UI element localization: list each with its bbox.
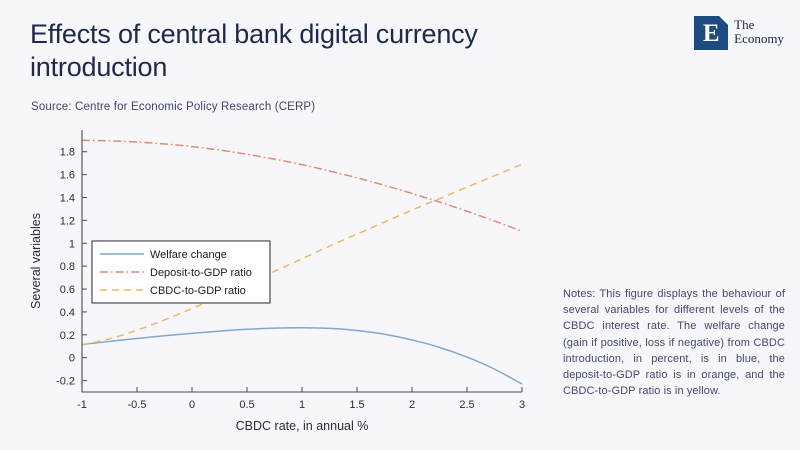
y-tick-label: 1 — [69, 238, 75, 250]
x-tick-label: -1 — [77, 399, 87, 411]
series-path — [82, 328, 522, 384]
x-tick-label: 1.5 — [349, 399, 364, 411]
page-title: Effects of central bank digital currency… — [30, 18, 590, 84]
x-tick-label: -0.5 — [128, 399, 147, 411]
legend-label: CBDC-to-GDP ratio — [150, 285, 246, 297]
chart-figure: -1-0.500.511.522.53 -0.200.20.40.60.811.… — [22, 120, 542, 440]
logo-wordmark-line2: Economy — [734, 32, 784, 46]
legend-label: Welfare change — [150, 249, 227, 261]
brand-logo: E The Economy — [694, 16, 784, 50]
x-tick-label: 2.5 — [459, 399, 474, 411]
chart-legend: Welfare changeDeposit-to-GDP ratioCBDC-t… — [92, 241, 270, 303]
line-chart: -1-0.500.511.522.53 -0.200.20.40.60.811.… — [22, 120, 542, 440]
y-tick-label: 0.8 — [60, 261, 75, 273]
y-tick-label: 0.6 — [60, 284, 75, 296]
y-tick-label: 1.4 — [60, 193, 75, 205]
y-tick-label: 1.8 — [60, 147, 75, 159]
y-tick-label: 0.4 — [60, 307, 75, 319]
x-tick-label: 1 — [299, 399, 305, 411]
y-tick-label: 1.2 — [60, 215, 75, 227]
y-tick-label: 1.6 — [60, 170, 75, 182]
x-tick-label: 2 — [409, 399, 415, 411]
logo-letter: E — [703, 21, 720, 46]
x-tick-label: 0.5 — [239, 399, 254, 411]
economy-logo-icon: E — [694, 16, 728, 50]
source-caption: Source: Centre for Economic Policy Resea… — [31, 101, 315, 113]
legend-label: Deposit-to-GDP ratio — [150, 267, 252, 279]
x-axis-title: CBDC rate, in annual % — [236, 419, 369, 433]
logo-wordmark: The Economy — [734, 16, 784, 46]
x-tick-label: 0 — [189, 399, 195, 411]
figure-notes: Notes: This figure displays the behaviou… — [563, 286, 785, 399]
y-axis-title: Several variables — [29, 213, 43, 309]
logo-wordmark-line1: The — [734, 18, 784, 32]
logo-fold-corner — [719, 16, 728, 25]
y-tick-label: -0.2 — [56, 376, 75, 388]
y-tick-label: 0.2 — [60, 330, 75, 342]
series-path — [82, 140, 522, 231]
y-tick-label: 0 — [69, 353, 75, 365]
x-axis-ticks: -1-0.500.511.522.53 — [77, 387, 525, 411]
x-tick-label: 3 — [519, 399, 525, 411]
